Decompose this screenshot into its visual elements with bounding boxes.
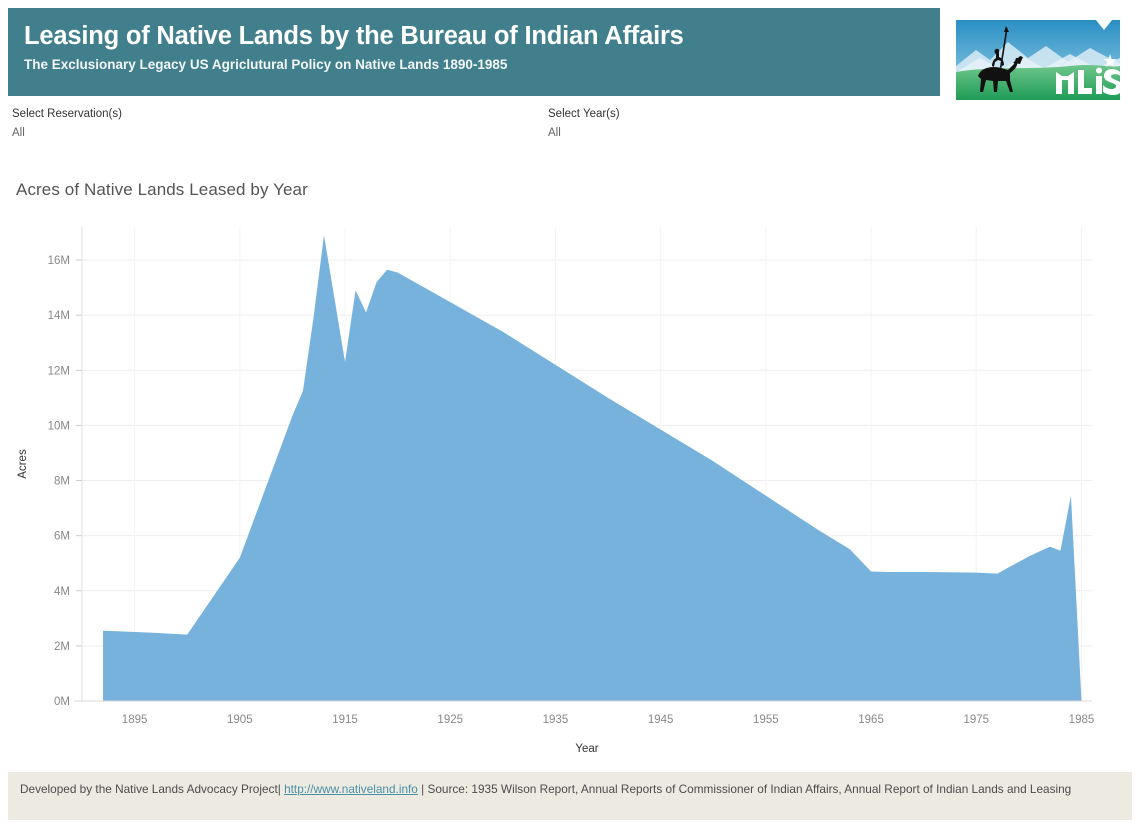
x-tick-label: 1905: [227, 714, 253, 726]
y-axis-title: Acres: [17, 449, 29, 479]
x-tick-label: 1945: [648, 714, 674, 726]
filter-year-label: Select Year(s): [548, 106, 620, 122]
footer-prefix: Developed by the Native Lands Advocacy P…: [20, 782, 281, 796]
x-tick-label: 1925: [437, 714, 463, 726]
x-axis-title: Year: [575, 743, 598, 755]
area-fill: [103, 235, 1081, 701]
x-tick-label: 1975: [963, 714, 989, 726]
y-tick-label: 8M: [54, 476, 70, 488]
chart-area-series: [103, 235, 1081, 701]
y-tick-label: 16M: [48, 255, 70, 267]
x-tick-label: 1965: [858, 714, 884, 726]
y-tick-label: 10M: [48, 420, 70, 432]
chart-area: 0M2M4M6M8M10M12M14M16M 18951905191519251…: [0, 215, 1140, 765]
x-tick-label: 1985: [1069, 714, 1095, 726]
y-tick-label: 14M: [48, 310, 70, 322]
y-tick-label: 2M: [54, 641, 70, 653]
filter-bar: Select Reservation(s) All Select Year(s)…: [0, 106, 1140, 146]
page-subtitle: The Exclusionary Legacy US Agriclutural …: [24, 55, 940, 75]
filter-reservation-label: Select Reservation(s): [12, 106, 122, 122]
title-banner: Leasing of Native Lands by the Bureau of…: [8, 8, 940, 96]
y-tick-label: 4M: [54, 586, 70, 598]
nativeland-link[interactable]: http://www.nativeland.info: [284, 782, 418, 796]
page-footer: Developed by the Native Lands Advocacy P…: [8, 772, 1132, 820]
y-tick-label: 6M: [54, 531, 70, 543]
x-tick-label: 1895: [122, 714, 148, 726]
filter-year-value[interactable]: All: [548, 125, 620, 141]
page-title: Leasing of Native Lands by the Bureau of…: [24, 20, 940, 52]
footer-suffix: | Source: 1935 Wilson Report, Annual Rep…: [418, 782, 1071, 796]
nlis-logo: [950, 14, 1126, 106]
y-tick-label: 12M: [48, 365, 70, 377]
page-header: Leasing of Native Lands by the Bureau of…: [0, 8, 1140, 96]
footer-text: Developed by the Native Lands Advocacy P…: [20, 780, 1120, 798]
y-tick-label: 0M: [54, 696, 70, 708]
chart-x-axis: 1895190519151925193519451955196519751985: [74, 701, 1094, 726]
filter-reservation: Select Reservation(s) All: [12, 106, 122, 141]
x-tick-label: 1935: [543, 714, 569, 726]
x-tick-label: 1955: [753, 714, 779, 726]
filter-reservation-value[interactable]: All: [12, 125, 122, 141]
x-tick-label: 1915: [332, 714, 358, 726]
chart-title: Acres of Native Lands Leased by Year: [16, 180, 308, 200]
chart-y-axis: 0M2M4M6M8M10M12M14M16M: [48, 227, 82, 708]
filter-year: Select Year(s) All: [548, 106, 620, 141]
